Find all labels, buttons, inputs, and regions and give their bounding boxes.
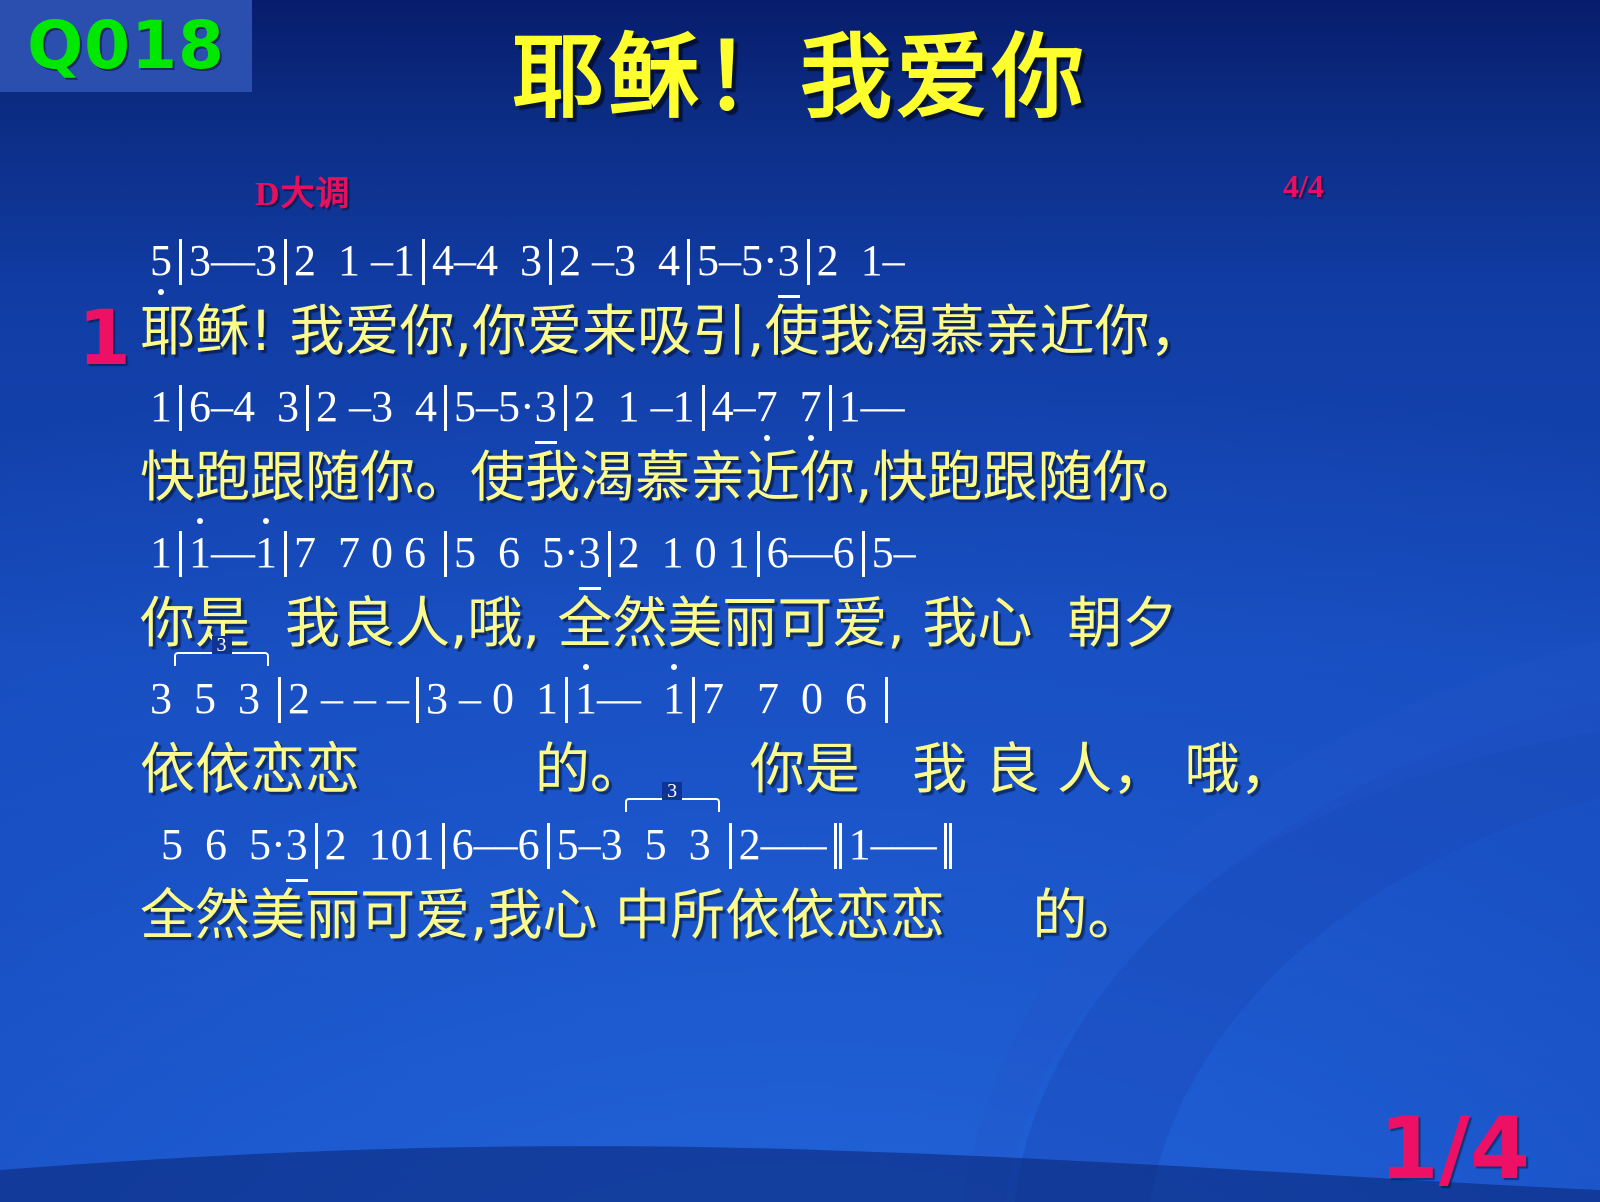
lyric-row-2: 快跑跟随你。使我渴慕亲近你,快跑跟随你。 bbox=[0, 440, 1600, 514]
notation-row-3: 11––17 7 0 6 5 6 5·32 1 0 16––65– bbox=[0, 520, 1600, 586]
notation-row-1: 53––32 1 –14–4 32 –3 45–5·32 1– bbox=[0, 228, 1600, 294]
key-signature-label: D大调 bbox=[255, 166, 351, 215]
notation-row-2: 16–4 32 –3 45–5·32 1 –14–7 71–– bbox=[0, 374, 1600, 440]
score-system-4: 33 5 3 2 – – –3 – 0 11–– 17 7 0 6 依依恋恋 的… bbox=[0, 666, 1600, 806]
notation-row-4: 33 5 3 2 – – –3 – 0 11–– 17 7 0 6 bbox=[0, 666, 1600, 732]
score-system-5: 5 6 5·32 1016––65–33 5 3 2–––1––– 全然美丽可爱… bbox=[0, 812, 1600, 952]
score-system-2: 16–4 32 –3 45–5·32 1 –14–7 71–– 快跑跟随你。使我… bbox=[0, 374, 1600, 514]
lyric-row-3: 你是 我良人,哦, 全然美丽可爱, 我心 朝夕 bbox=[0, 586, 1600, 660]
notation-row-5: 5 6 5·32 1016––65–33 5 3 2–––1––– bbox=[0, 812, 1600, 878]
score-systems: 53––32 1 –14–4 32 –3 45–5·32 1– 耶稣! 我爱你,… bbox=[0, 228, 1600, 958]
lyric-row-4: 依依恋恋 的。 你是 我 良 人， 哦， bbox=[0, 732, 1600, 806]
lyric-row-1: 耶稣! 我爱你,你爱来吸引,使我渴慕亲近你， bbox=[0, 294, 1600, 368]
page-title: 耶稣！我爱你 bbox=[0, 30, 1600, 127]
score-system-3: 11––17 7 0 6 5 6 5·32 1 0 16––65– 你是 我良人… bbox=[0, 520, 1600, 660]
triplet-bracket: 3 5 3 bbox=[172, 666, 271, 732]
triplet-bracket: 3 5 3 bbox=[623, 812, 722, 878]
page-indicator: 1/4 bbox=[1379, 1106, 1530, 1192]
score-system-1: 53––32 1 –14–4 32 –3 45–5·32 1– 耶稣! 我爱你,… bbox=[0, 228, 1600, 368]
time-signature-label: 4/4 bbox=[1283, 168, 1324, 205]
lyric-row-5: 全然美丽可爱,我心 中所依依恋恋 的。 bbox=[0, 878, 1600, 952]
